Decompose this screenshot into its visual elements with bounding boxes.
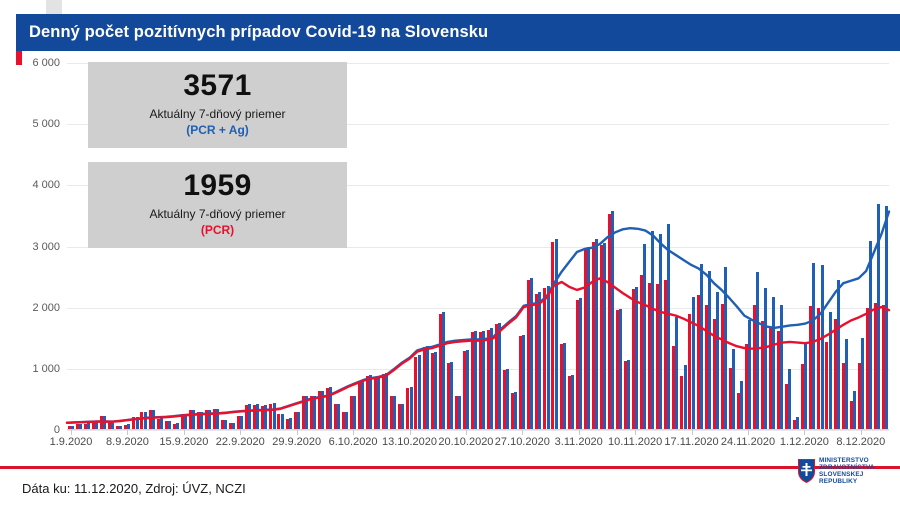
callout-tag-pcr-ag: (PCR + Ag) bbox=[186, 122, 249, 138]
x-axis-tick bbox=[410, 430, 411, 435]
y-axis-tick-label: 5 000 bbox=[6, 118, 60, 130]
x-axis-tick bbox=[692, 430, 693, 435]
footer-divider bbox=[0, 466, 900, 469]
callout-box-pcr-ag: 3571 Aktuálny 7-dňový priemer (PCR + Ag) bbox=[88, 62, 347, 148]
title-bar: Denný počet pozitívnych prípadov Covid-1… bbox=[16, 14, 900, 51]
x-axis-tick bbox=[804, 430, 805, 435]
x-axis-tick bbox=[861, 430, 862, 435]
x-axis-tick-label: 15.9.2020 bbox=[159, 436, 208, 448]
y-axis-tick-label: 1 000 bbox=[6, 363, 60, 375]
callout-box-pcr: 1959 Aktuálny 7-dňový priemer (PCR) bbox=[88, 162, 347, 248]
x-axis-labels: 1.9.20208.9.202015.9.202022.9.202029.9.2… bbox=[67, 430, 889, 458]
infographic-root: Denný počet pozitívnych prípadov Covid-1… bbox=[0, 0, 900, 515]
x-axis-tick-label: 22.9.2020 bbox=[216, 436, 265, 448]
x-axis-tick-label: 1.12.2020 bbox=[780, 436, 829, 448]
top-notch bbox=[46, 0, 62, 14]
y-axis-labels: 01 0002 0003 0004 0005 0006 000 bbox=[0, 63, 60, 430]
data-source-note: Dáta ku: 11.12.2020, Zdroj: ÚVZ, NCZI bbox=[22, 481, 246, 496]
x-axis-tick bbox=[184, 430, 185, 435]
ministry-logo-text: MINISTERSTVO ZDRAVOTNÍCTVA SLOVENSKEJ RE… bbox=[819, 457, 894, 486]
x-axis-tick bbox=[635, 430, 636, 435]
x-axis-tick-label: 27.10.2020 bbox=[495, 436, 550, 448]
ministry-logo-line3: SLOVENSKEJ REPUBLIKY bbox=[819, 471, 894, 485]
x-axis-tick-label: 10.11.2020 bbox=[608, 436, 662, 448]
x-axis-tick bbox=[579, 430, 580, 435]
y-axis-tick-label: 2 000 bbox=[6, 302, 60, 314]
x-axis-tick-label: 3.11.2020 bbox=[555, 436, 603, 448]
x-axis-tick-label: 1.9.2020 bbox=[50, 436, 93, 448]
slovak-crest-icon bbox=[798, 459, 815, 483]
ministry-logo-line1: MINISTERSTVO bbox=[819, 457, 894, 464]
x-axis-tick-label: 8.9.2020 bbox=[106, 436, 149, 448]
y-axis-tick-label: 4 000 bbox=[6, 179, 60, 191]
ministry-logo: MINISTERSTVO ZDRAVOTNÍCTVA SLOVENSKEJ RE… bbox=[798, 456, 894, 486]
callout-value-pcr: 1959 bbox=[183, 171, 251, 201]
x-axis-tick-label: 20.10.2020 bbox=[438, 436, 493, 448]
x-axis-tick bbox=[71, 430, 72, 435]
y-axis-tick-label: 0 bbox=[6, 424, 60, 436]
average-line-pcr bbox=[67, 278, 889, 422]
x-axis-tick-label: 29.9.2020 bbox=[272, 436, 321, 448]
x-axis-tick bbox=[240, 430, 241, 435]
x-axis-tick bbox=[353, 430, 354, 435]
x-axis-tick-label: 13.10.2020 bbox=[382, 436, 437, 448]
x-axis-tick-label: 8.12.2020 bbox=[836, 436, 885, 448]
ministry-logo-line2: ZDRAVOTNÍCTVA bbox=[819, 464, 894, 471]
x-axis-tick bbox=[466, 430, 467, 435]
x-axis-tick bbox=[297, 430, 298, 435]
x-axis-tick-label: 17.11.2020 bbox=[664, 436, 718, 448]
x-axis-tick bbox=[522, 430, 523, 435]
x-axis-tick bbox=[748, 430, 749, 435]
callout-caption-pcr: Aktuálny 7-dňový priemer bbox=[149, 207, 285, 222]
page-title: Denný počet pozitívnych prípadov Covid-1… bbox=[29, 23, 488, 42]
x-axis-tick-label: 24.11.2020 bbox=[721, 436, 775, 448]
callout-value-pcr-ag: 3571 bbox=[183, 71, 251, 101]
y-axis-tick-label: 6 000 bbox=[6, 57, 60, 69]
x-axis-tick bbox=[127, 430, 128, 435]
x-axis-tick-label: 6.10.2020 bbox=[329, 436, 378, 448]
callout-tag-pcr: (PCR) bbox=[201, 222, 234, 238]
y-axis-tick-label: 3 000 bbox=[6, 241, 60, 253]
callout-caption-pcr-ag: Aktuálny 7-dňový priemer bbox=[149, 107, 285, 122]
